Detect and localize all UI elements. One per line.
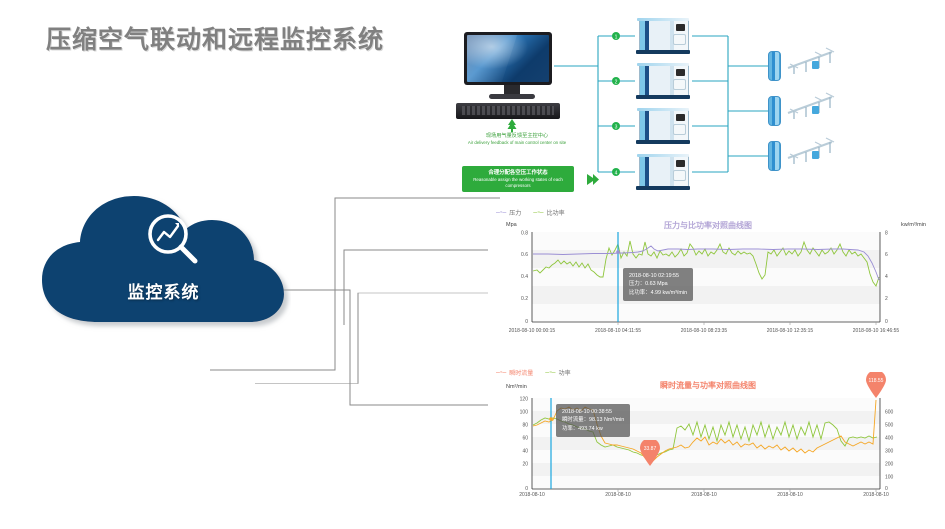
chart1-tooltip: 2018-08-10 02:19:55 压力：0.63 Mpa 比功率：4.99… xyxy=(623,268,693,301)
svg-text:200: 200 xyxy=(885,462,894,468)
compressor-4 xyxy=(635,154,691,190)
svg-text:40: 40 xyxy=(522,449,528,455)
compressor-2 xyxy=(635,63,691,99)
svg-text:0.6: 0.6 xyxy=(521,252,528,258)
compressor-3 xyxy=(635,108,691,144)
chart2-title: 瞬时流量与功率对照曲线图 xyxy=(488,380,928,391)
chart2-xtick-2: 2018-08-10 xyxy=(674,492,734,498)
legend-item-pressure[interactable]: –◦– 压力 xyxy=(496,208,521,217)
legend-symbol-pressure: –◦– xyxy=(496,209,506,216)
svg-text:4: 4 xyxy=(885,274,888,280)
svg-text:0: 0 xyxy=(525,319,528,325)
chart2-plot[interactable]: 120 100 80 60 40 20 0 600 500 400 300 20… xyxy=(488,394,928,506)
air-tank-3 xyxy=(768,141,784,171)
chart1-legend: –◦– 压力 –◦– 比功率 xyxy=(496,208,565,217)
svg-text:4: 4 xyxy=(615,171,618,177)
monitoring-cloud[interactable]: 监控系统 xyxy=(36,192,291,332)
node-marker-4: 4 xyxy=(612,168,620,177)
chart2-tooltip-power: 功率：493.74 kw xyxy=(562,425,624,433)
svg-text:300: 300 xyxy=(885,449,894,455)
page-title: 压缩空气联动和远程监控系统 xyxy=(46,20,384,56)
magnifier-chart-icon xyxy=(144,210,202,268)
chart2-tooltip: 2018-08-10 00:38:55 瞬时流量：98.13 Nm³/min 功… xyxy=(556,404,630,437)
chart2-tooltip-time: 2018-08-10 00:38:55 xyxy=(562,408,624,416)
chart2-min-marker-label: 33.87 xyxy=(640,446,660,452)
svg-text:100: 100 xyxy=(885,475,894,481)
svg-text:0.2: 0.2 xyxy=(521,296,528,302)
svg-text:2: 2 xyxy=(885,296,888,302)
svg-text:3: 3 xyxy=(615,125,618,131)
node-marker-2: 2 xyxy=(612,77,620,86)
system-diagram: 现场用气量反馈至主控中心 Air delivery feedback of ma… xyxy=(430,18,940,203)
chart1-tooltip-time: 2018-08-10 02:19:55 xyxy=(629,272,687,280)
chart2-max-marker-label: 118.55 xyxy=(864,378,888,384)
svg-text:8: 8 xyxy=(885,231,888,237)
chart2-max-marker xyxy=(866,372,886,398)
svg-text:0.8: 0.8 xyxy=(521,231,528,237)
svg-text:0.4: 0.4 xyxy=(521,274,528,280)
distribution-pipes-2 xyxy=(786,89,846,123)
legend-label-specific-power: 比功率 xyxy=(547,208,565,217)
legend-symbol-specific-power: –◦– xyxy=(533,209,543,216)
svg-text:1: 1 xyxy=(615,35,618,41)
compressor-1 xyxy=(635,18,691,54)
svg-text:80: 80 xyxy=(522,423,528,429)
legend-symbol-flow: –◦– xyxy=(496,369,506,376)
legend-label-pressure: 压力 xyxy=(509,208,521,217)
chart1-xtick-1: 2018-08-10 04:11:55 xyxy=(588,328,648,334)
chart1-xtick-0: 2018-08-10 00:00:15 xyxy=(502,328,562,334)
chart2-xtick-1: 2018-08-10 xyxy=(588,492,648,498)
air-tank-1 xyxy=(768,51,784,81)
chart2-y-left-unit: Nm³/min xyxy=(506,384,527,390)
chart1-y-left-unit: Mpa xyxy=(506,222,517,228)
legend-item-specific-power[interactable]: –◦– 比功率 xyxy=(533,208,564,217)
cloud-label: 监控系统 xyxy=(36,278,291,303)
legend-label-power: 功率 xyxy=(559,368,571,377)
chart2-legend: –◦– 瞬时流量 –◦– 功率 xyxy=(496,368,571,377)
distribution-pipes-1 xyxy=(786,44,846,78)
chart1-tooltip-pressure: 压力：0.63 Mpa xyxy=(629,280,687,288)
svg-text:2: 2 xyxy=(615,80,618,86)
svg-text:0: 0 xyxy=(885,319,888,325)
legend-symbol-power: –◦– xyxy=(545,369,555,376)
legend-item-flow[interactable]: –◦– 瞬时流量 xyxy=(496,368,533,377)
svg-text:500: 500 xyxy=(885,423,894,429)
legend-label-flow: 瞬时流量 xyxy=(509,368,533,377)
distribution-pipes-3 xyxy=(786,134,846,168)
chart1-xtick-4: 2018-08-10 16:46:55 xyxy=(846,328,906,334)
svg-text:6: 6 xyxy=(885,252,888,258)
chart2-tooltip-flow: 瞬时流量：98.13 Nm³/min xyxy=(562,416,624,424)
chart-pressure-specific-power[interactable]: –◦– 压力 –◦– 比功率 压力与比功率对照曲线图 Mpa kw/m³/min… xyxy=(488,204,928,334)
chart1-tooltip-specific-power: 比功率：4.99 kw/m³/min xyxy=(629,289,687,297)
chart2-min-marker xyxy=(640,440,660,466)
svg-text:600: 600 xyxy=(885,410,894,416)
node-marker-3: 3 xyxy=(612,122,620,131)
chart1-y-right-unit: kw/m³/min xyxy=(901,222,926,228)
svg-text:60: 60 xyxy=(522,436,528,442)
node-marker-1: 1 xyxy=(612,32,620,41)
chart-flow-power[interactable]: –◦– 瞬时流量 –◦– 功率 瞬时流量与功率对照曲线图 Nm³/min 120… xyxy=(488,364,928,524)
air-tank-2 xyxy=(768,96,784,126)
legend-item-power[interactable]: –◦– 功率 xyxy=(545,368,570,377)
chart2-xtick-3: 2018-08-10 xyxy=(760,492,820,498)
chart2-xtick-0: 2018-08-10 xyxy=(502,492,562,498)
svg-text:20: 20 xyxy=(522,462,528,468)
chart1-plot[interactable]: 0.8 0.6 0.4 0.2 0 8 6 4 2 0 xyxy=(488,230,928,334)
svg-text:400: 400 xyxy=(885,436,894,442)
slide-canvas: 压缩空气联动和远程监控系统 监控系统 xyxy=(0,0,945,529)
chart1-xtick-3: 2018-08-10 12:35:15 xyxy=(760,328,820,334)
chart1-xtick-2: 2018-08-10 08:23:35 xyxy=(674,328,734,334)
chart2-xtick-4: 2018-08-10 xyxy=(846,492,906,498)
svg-text:100: 100 xyxy=(520,410,529,416)
svg-text:120: 120 xyxy=(520,397,529,403)
